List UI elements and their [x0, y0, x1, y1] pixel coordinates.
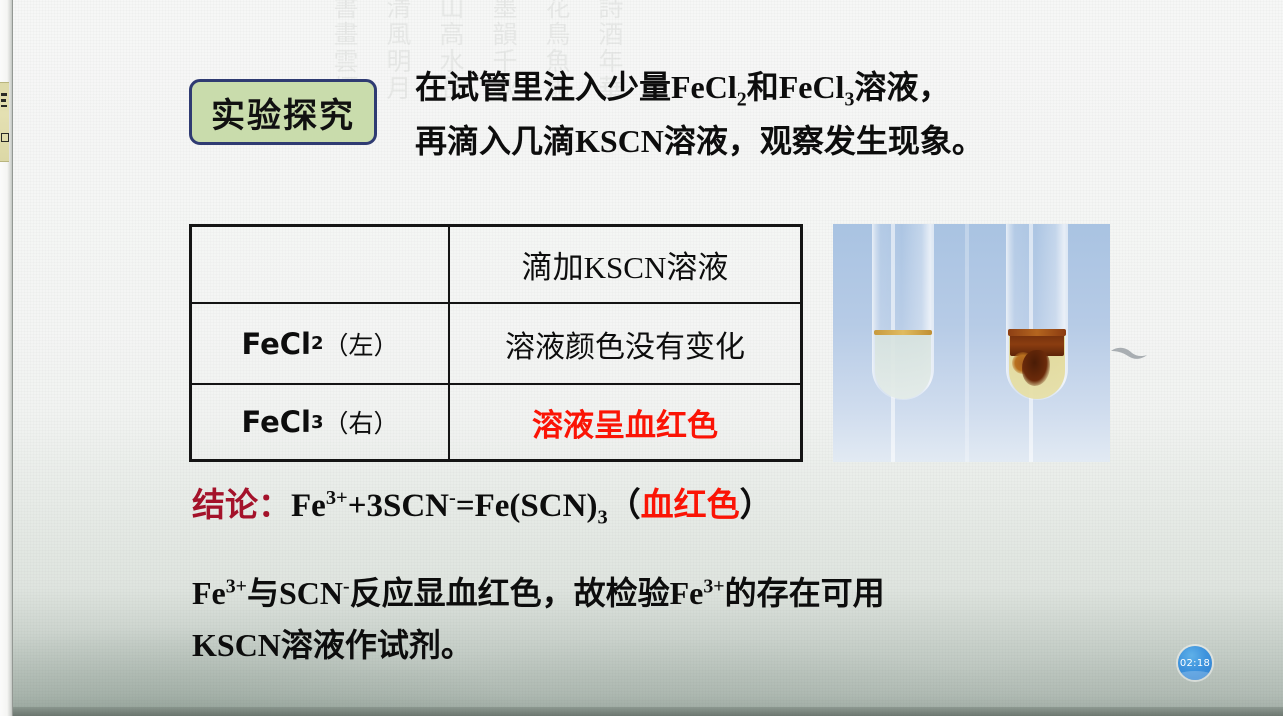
test-tube-photo: [833, 224, 1110, 462]
table-row-label-fecl3: FeCl3（右）: [192, 385, 450, 459]
table-corner-cell: [192, 227, 450, 304]
conclusion-equation: Fe3++3SCN-=Fe(SCN)3: [291, 488, 608, 524]
test-tube-right: [1006, 224, 1068, 400]
conclusion-paren-close: ）: [740, 488, 773, 524]
slide-canvas: 書畫雲煙 清風明月 山高水長 墨韻千秋 花鳥魚蟲 詩酒年華 实验探究 在试管里注…: [0, 0, 1283, 716]
panel-divider: [12, 0, 13, 716]
prompt-text: 在试管里注入少量FeCl2和FeCl3溶液， 再滴入几滴KSCN溶液，观察发生现…: [415, 62, 1055, 166]
timer-value: 02:18: [1180, 658, 1210, 669]
explanation-line-1: Fe3+与SCN-反应显血红色，故检验Fe3+的存在可用: [192, 568, 1072, 620]
bird-silhouette-icon: [1110, 342, 1148, 366]
conclusion-paren-open: （: [608, 488, 641, 524]
table-result-fecl3: 溶液呈血红色: [450, 385, 800, 459]
table-header-kscn: 滴加KSCN溶液: [450, 227, 800, 304]
results-table: 滴加KSCN溶液 FeCl2（左） 溶液颜色没有变化 FeCl3（右） 溶液呈血…: [189, 224, 803, 462]
bottom-strip: [0, 707, 1283, 716]
slide-thumbnail-sliver[interactable]: [0, 82, 9, 162]
section-badge: 实验探究: [189, 79, 377, 145]
conclusion-line: 结论：Fe3++3SCN-=Fe(SCN)3（血红色）: [192, 487, 773, 529]
watermark-column: 清風明月: [383, 0, 410, 224]
timer-wave: [1178, 671, 1212, 680]
table-row-label-fecl2: FeCl2（左）: [192, 304, 450, 385]
test-tube-left: [872, 224, 934, 400]
explanation-line-2: KSCN溶液作试剂。: [192, 620, 1072, 672]
timer-badge[interactable]: 02:18: [1178, 646, 1212, 680]
conclusion-highlight: 血红色: [641, 488, 740, 524]
table-result-fecl2: 溶液颜色没有变化: [450, 304, 800, 385]
section-badge-label: 实验探究: [211, 88, 355, 137]
prompt-line-1: 在试管里注入少量FeCl2和FeCl3溶液，: [415, 62, 1055, 116]
conclusion-prefix: 结论：: [192, 488, 291, 524]
prompt-line-2: 再滴入几滴KSCN溶液，观察发生现象。: [415, 116, 1055, 167]
explanation-text: Fe3+与SCN-反应显血红色，故检验Fe3+的存在可用 KSCN溶液作试剂。: [192, 568, 1072, 672]
